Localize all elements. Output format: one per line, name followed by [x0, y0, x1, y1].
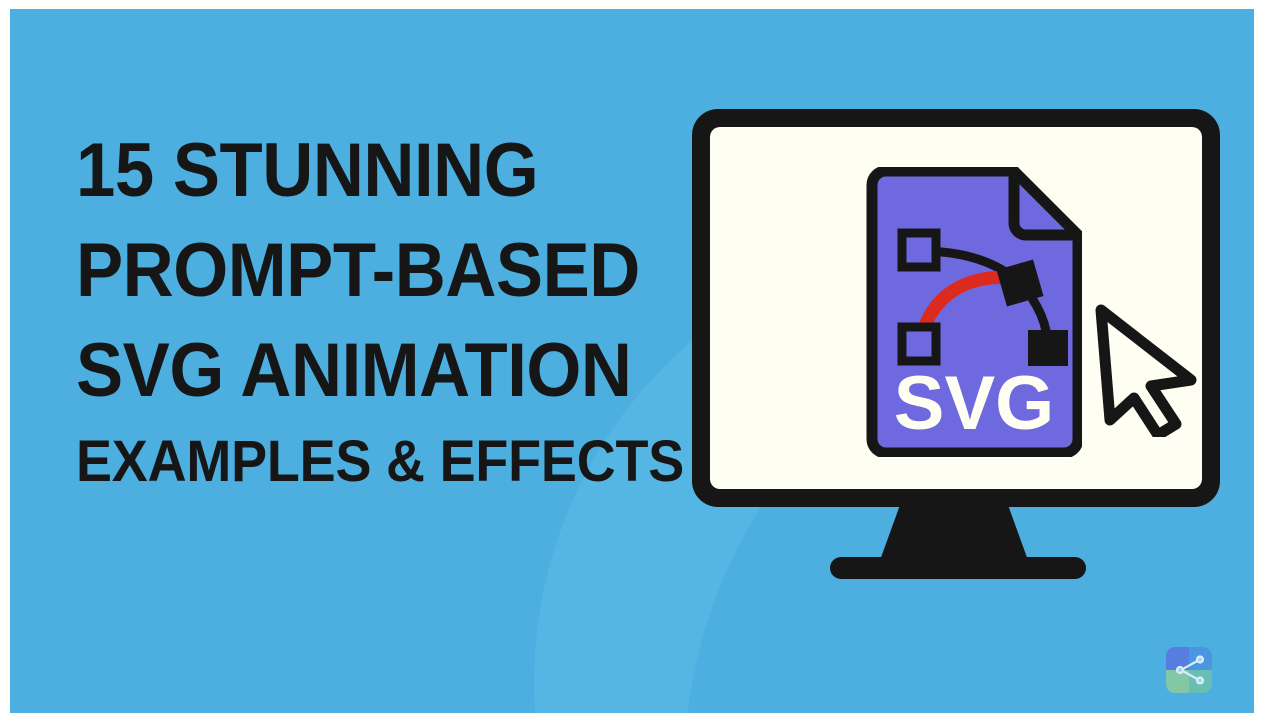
headline-line-3: SVG ANIMATION	[76, 321, 653, 421]
monitor-stand-base	[830, 557, 1086, 579]
monitor-stand-neck	[879, 505, 1029, 563]
page-title: 15 STUNNING PROMPT-BASED SVG ANIMATION E…	[76, 121, 696, 503]
svg-file-label: SVG	[894, 361, 1055, 446]
headline-line-1: 15 STUNNING	[76, 121, 653, 221]
monitor-frame: SVG	[692, 109, 1220, 507]
monitor-illustration: SVG	[682, 99, 1227, 579]
monitor-screen: SVG	[710, 127, 1202, 489]
thumbnail-canvas: 15 STUNNING PROMPT-BASED SVG ANIMATION E…	[0, 0, 1264, 722]
headline-line-2: PROMPT-BASED	[76, 221, 653, 321]
svg-file-icon: SVG	[858, 167, 1082, 457]
mouse-pointer-icon	[1088, 302, 1202, 437]
headline-line-4: EXAMPLES & EFFECTS	[76, 421, 653, 503]
share-network-logo-icon	[1166, 647, 1212, 693]
backdrop: 15 STUNNING PROMPT-BASED SVG ANIMATION E…	[10, 9, 1254, 713]
